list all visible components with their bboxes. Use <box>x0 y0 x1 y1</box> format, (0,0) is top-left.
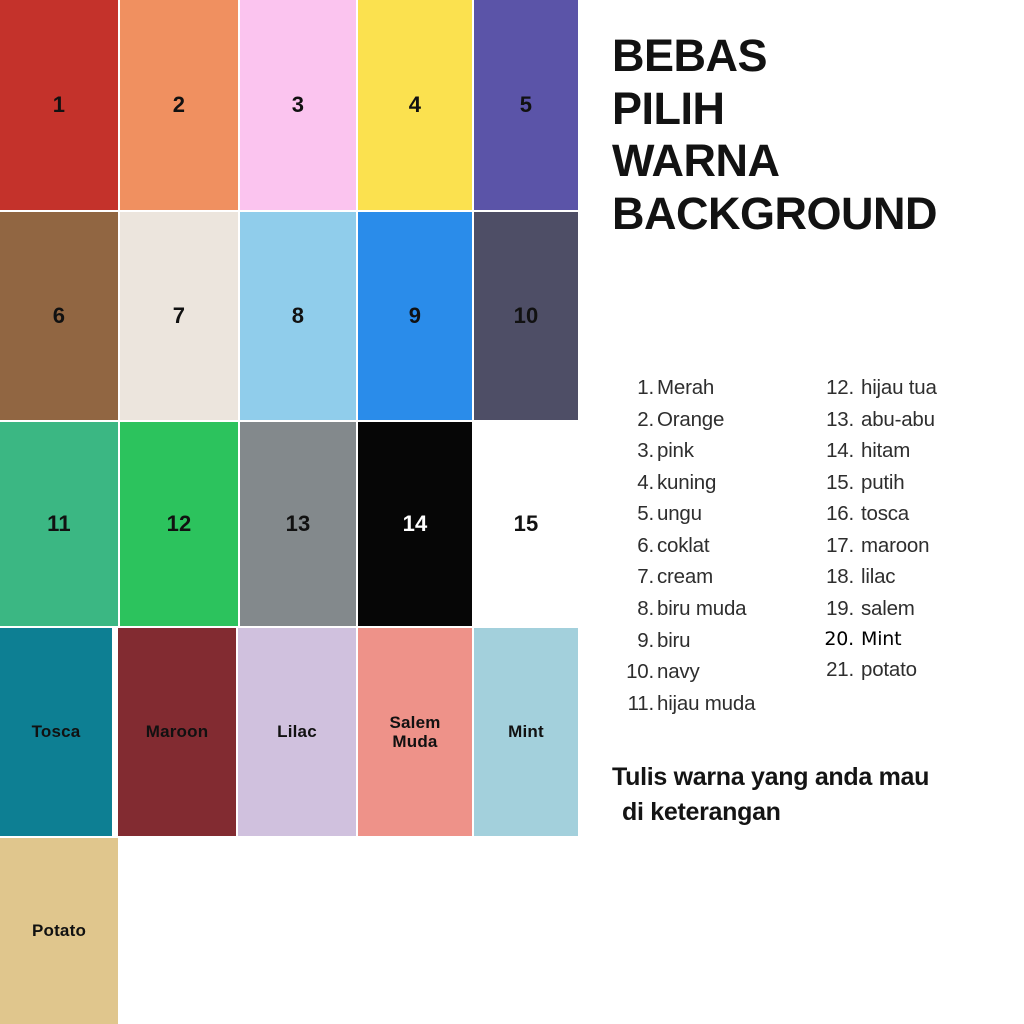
legend-item-name: kuning <box>654 467 716 499</box>
legend-item-index: 13. <box>820 404 854 436</box>
legend-item: 21.potato <box>820 654 1020 686</box>
legend-item-index: 15. <box>820 467 854 499</box>
legend-item-name: pink <box>654 435 694 467</box>
title-line-1: BEBAS <box>612 30 1022 83</box>
swatch-label: Tosca <box>32 722 81 741</box>
color-swatch[interactable]: Maroon <box>118 628 236 836</box>
title-line-2: PILIH <box>612 83 1022 136</box>
swatch-label: 6 <box>53 304 65 329</box>
color-swatch[interactable]: Tosca <box>0 628 112 836</box>
swatch-label: Potato <box>32 921 86 940</box>
color-swatch[interactable]: 7 <box>120 212 238 420</box>
legend-item: 6.coklat <box>620 530 810 562</box>
color-swatch[interactable]: 6 <box>0 212 118 420</box>
swatch-label: Maroon <box>146 722 209 741</box>
legend-item-index: 10. <box>620 656 654 688</box>
color-swatch-grid: 123456789101112131415ToscaMaroonLilacSal… <box>0 0 580 1024</box>
legend-item-name: lilac <box>854 561 895 593</box>
color-swatch[interactable]: 13 <box>240 422 356 626</box>
legend-item-index: 4. <box>620 467 654 499</box>
color-swatch[interactable]: 4 <box>358 0 472 210</box>
caption-line-1: Tulis warna yang anda mau <box>612 760 1022 795</box>
legend-column-right: 12.hijau tua13.abu-abu14.hitam15.putih16… <box>820 372 1020 685</box>
swatch-label: 9 <box>409 304 421 329</box>
color-swatch[interactable]: Mint <box>474 628 578 836</box>
swatch-label: SalemMuda <box>389 713 440 751</box>
legend-item-name: Merah <box>654 372 714 404</box>
swatch-label: 5 <box>520 93 532 118</box>
legend-item-index: 21. <box>820 654 854 686</box>
legend-item-name: potato <box>854 654 917 686</box>
legend-item: 18.lilac <box>820 561 1020 593</box>
legend-item: 8.biru muda <box>620 593 810 625</box>
instruction-caption: Tulis warna yang anda mau di keterangan <box>612 760 1022 829</box>
legend-item-index: 20. <box>820 625 854 654</box>
color-swatch[interactable]: 11 <box>0 422 118 626</box>
swatch-label: 2 <box>173 93 185 118</box>
color-palette-poster: 123456789101112131415ToscaMaroonLilacSal… <box>0 0 1024 1024</box>
info-panel: BEBAS PILIH WARNA BACKGROUND 1.Merah2.Or… <box>600 0 1024 1024</box>
legend-item-index: 1. <box>620 372 654 404</box>
color-swatch[interactable]: 8 <box>240 212 356 420</box>
legend-item: 17.maroon <box>820 530 1020 562</box>
color-swatch[interactable]: 2 <box>120 0 238 210</box>
legend-item-name: coklat <box>654 530 709 562</box>
title-line-4: BACKGROUND <box>612 188 1022 241</box>
swatch-label: 3 <box>292 93 304 118</box>
legend-column-left: 1.Merah2.Orange3.pink4.kuning5.ungu6.cok… <box>620 372 810 719</box>
legend-item-index: 11. <box>620 688 654 720</box>
page-title: BEBAS PILIH WARNA BACKGROUND <box>612 30 1022 241</box>
legend-item: 20.Mint <box>820 625 1020 654</box>
title-line-3: WARNA <box>612 135 1022 188</box>
legend-item-index: 5. <box>620 498 654 530</box>
legend-item-name: abu-abu <box>854 404 935 436</box>
legend-item: 12.hijau tua <box>820 372 1020 404</box>
swatch-label: 12 <box>167 512 192 537</box>
legend-item-index: 18. <box>820 561 854 593</box>
legend-item-index: 2. <box>620 404 654 436</box>
color-swatch[interactable]: 5 <box>474 0 578 210</box>
legend-item: 19.salem <box>820 593 1020 625</box>
color-swatch[interactable]: Potato <box>0 838 118 1024</box>
legend-item-name: maroon <box>854 530 929 562</box>
legend-item-name: putih <box>854 467 904 499</box>
legend-item-index: 19. <box>820 593 854 625</box>
legend-item: 11.hijau muda <box>620 688 810 720</box>
legend-item-name: cream <box>654 561 713 593</box>
legend-item: 15.putih <box>820 467 1020 499</box>
swatch-label: 15 <box>514 512 539 537</box>
legend-item-index: 14. <box>820 435 854 467</box>
swatch-label: 14 <box>403 512 428 537</box>
legend-item: 13.abu-abu <box>820 404 1020 436</box>
legend-item-name: hitam <box>854 435 910 467</box>
legend-item-index: 16. <box>820 498 854 530</box>
swatch-label: 7 <box>173 304 185 329</box>
legend-item-index: 9. <box>620 625 654 657</box>
swatch-label: 4 <box>409 93 421 118</box>
legend-item-name: hijau tua <box>854 372 937 404</box>
swatch-label: 10 <box>514 304 539 329</box>
caption-line-2: di keterangan <box>612 795 1022 830</box>
legend-item-index: 6. <box>620 530 654 562</box>
color-swatch[interactable]: 12 <box>120 422 238 626</box>
swatch-label: 8 <box>292 304 304 329</box>
color-swatch[interactable]: 15 <box>474 422 578 626</box>
swatch-label: 1 <box>53 93 65 118</box>
legend-item-index: 3. <box>620 435 654 467</box>
color-swatch[interactable]: 3 <box>240 0 356 210</box>
color-swatch[interactable]: 1 <box>0 0 118 210</box>
legend-item: 14.hitam <box>820 435 1020 467</box>
legend-item-index: 17. <box>820 530 854 562</box>
legend-item-name: Orange <box>654 404 724 436</box>
legend-item-name: ungu <box>654 498 702 530</box>
color-swatch[interactable]: SalemMuda <box>358 628 472 836</box>
legend-item-index: 8. <box>620 593 654 625</box>
legend-item: 16.tosca <box>820 498 1020 530</box>
color-swatch[interactable]: 10 <box>474 212 578 420</box>
legend-item: 9.biru <box>620 625 810 657</box>
legend-item: 4.kuning <box>620 467 810 499</box>
swatch-label: Mint <box>508 722 544 741</box>
legend-item-name: Mint <box>854 625 901 654</box>
swatch-label: Lilac <box>277 722 317 741</box>
legend-item-name: hijau muda <box>654 688 755 720</box>
swatch-label: 13 <box>286 512 311 537</box>
legend-item-name: salem <box>854 593 915 625</box>
legend-item-index: 12. <box>820 372 854 404</box>
legend-item-index: 7. <box>620 561 654 593</box>
legend-item-name: navy <box>654 656 700 688</box>
legend-item: 5.ungu <box>620 498 810 530</box>
legend-item: 7.cream <box>620 561 810 593</box>
legend-item: 2.Orange <box>620 404 810 436</box>
color-swatch[interactable]: Lilac <box>238 628 356 836</box>
legend-item: 10.navy <box>620 656 810 688</box>
legend-item: 3.pink <box>620 435 810 467</box>
legend-item: 1.Merah <box>620 372 810 404</box>
legend-item-name: biru <box>654 625 690 657</box>
color-swatch[interactable]: 14 <box>358 422 472 626</box>
color-swatch[interactable]: 9 <box>358 212 472 420</box>
swatch-label: 11 <box>47 512 71 537</box>
legend-item-name: biru muda <box>654 593 746 625</box>
legend-item-name: tosca <box>854 498 909 530</box>
